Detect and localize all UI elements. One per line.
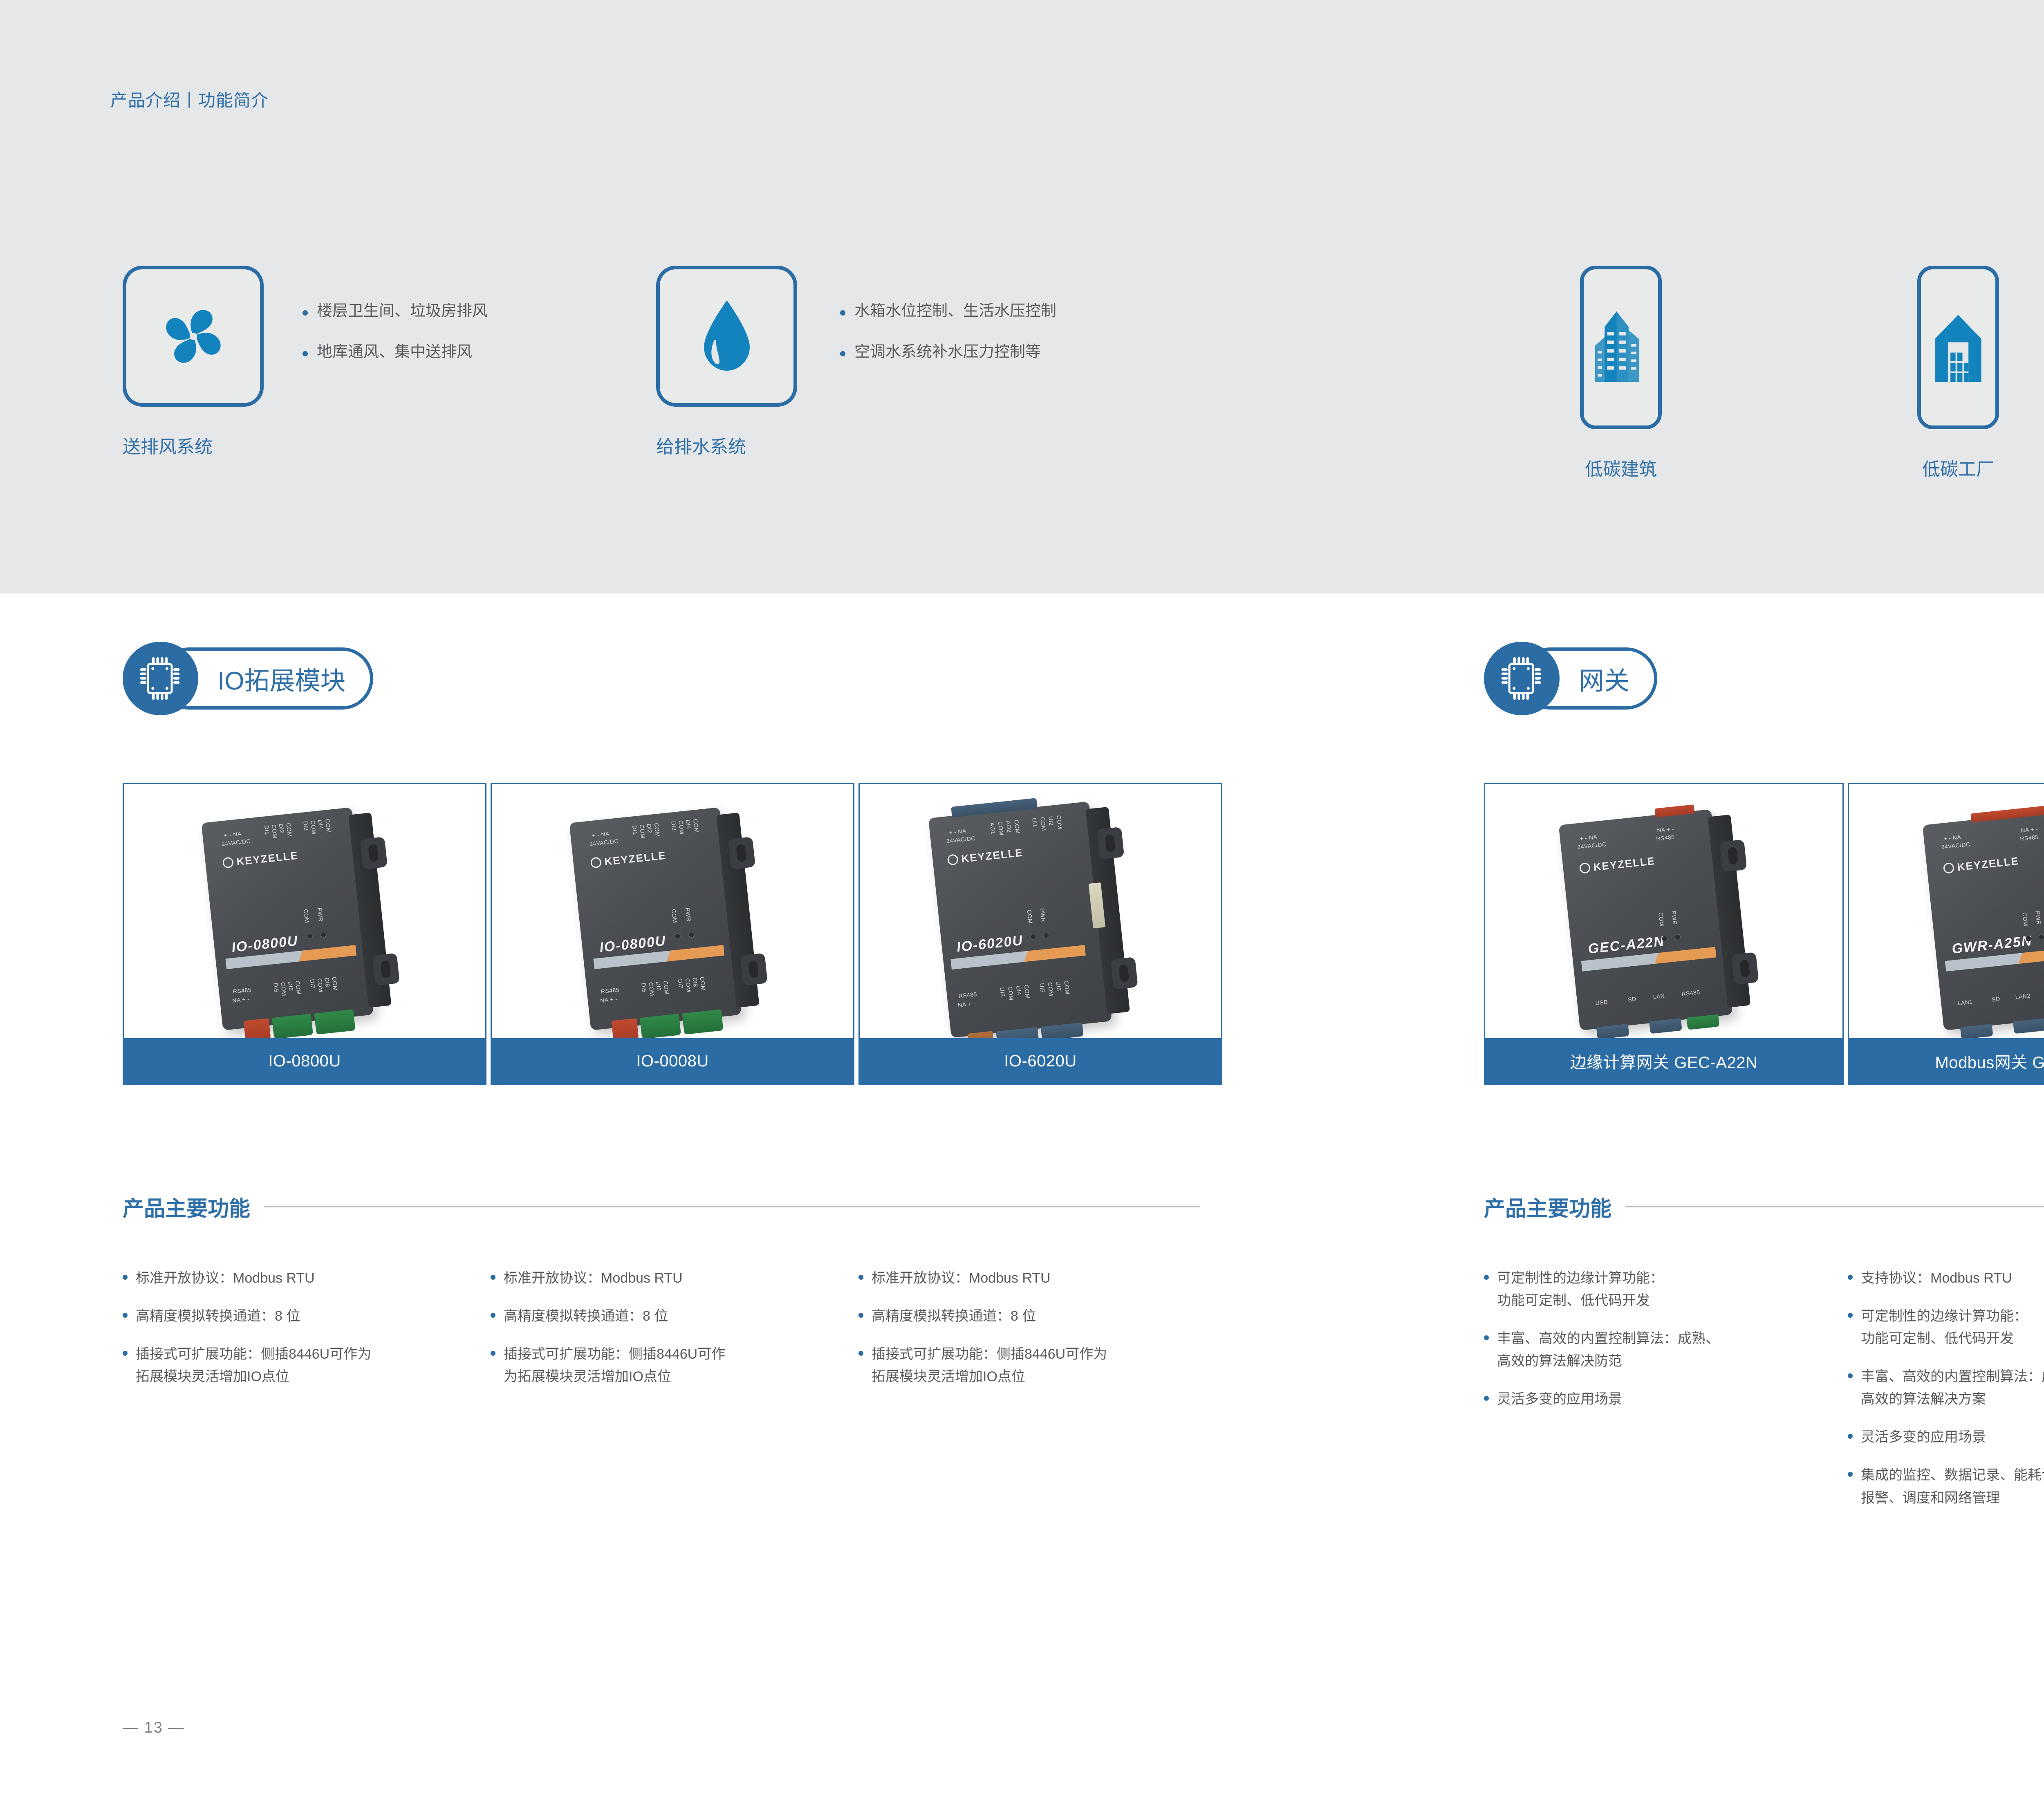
section-header-io-expansion: IO拓展模块	[123, 642, 425, 715]
chip-icon	[139, 656, 182, 701]
terminal-label: UI2	[1047, 816, 1055, 826]
fan-bullet-list: 楼层卫生间、垃圾房排风 地库通风、集中送排风	[303, 302, 488, 383]
terminal-label: DI1	[263, 825, 271, 835]
device-illustration-gwr-a25n: + - NA 24VAC/DC NA + - RS485 KEYZELLE GW…	[1923, 809, 2044, 1030]
terminal-label: COM	[684, 978, 692, 993]
bullet-item: 地库通风、集中送排风	[303, 343, 488, 362]
bullet-dot-icon	[1484, 1335, 1489, 1340]
brand-text: KEYZELLE	[1957, 855, 2019, 873]
bullet-dot-icon	[491, 1313, 495, 1318]
feature-line: 灵活多变的应用场景	[1497, 1391, 1622, 1407]
top-grey-band	[0, 0, 2044, 593]
port-label: USB	[1595, 999, 1608, 1006]
feature-text: 集成的监控、数据记录、能耗计量、 报警、调度和网络管理	[1861, 1464, 2044, 1509]
brand-text: KEYZELLE	[236, 849, 299, 868]
terminal-label: DI2	[278, 823, 285, 833]
feature-text: 可定制性的边缘计算功能： 功能可定制、低代码开发	[1861, 1305, 2028, 1350]
application-caption: 送排风系统	[123, 432, 264, 458]
product-label: Modbus网关 GWR-A25N	[1849, 1038, 2044, 1084]
terminal-label: DI1	[631, 825, 639, 835]
terminal-label: COM	[1056, 815, 1063, 830]
terminal-label: DI8	[692, 977, 699, 987]
device-illustration-io-6020u: + - NA 24VAC/DC AO1 COM AO2 COM UI1 COM …	[928, 802, 1112, 1038]
section-title: IO拓展模块	[217, 660, 345, 697]
led-label: PWR	[1670, 911, 1678, 925]
brand-mark: KEYZELLE	[590, 849, 667, 869]
rs485-pins-label: NA + -	[600, 996, 618, 1004]
feature-item: 标准开放协议：Modbus RTU	[491, 1267, 850, 1290]
bullet-dot-icon	[1848, 1373, 1853, 1378]
terminal-label: DI4	[317, 819, 324, 829]
product-photo: + - NA 24VAC/DC NA + - RS485 KEYZELLE GW…	[1849, 784, 2044, 1038]
page-number-left: — 13 —	[123, 1719, 184, 1737]
feature-line: 集成的监控、数据记录、能耗计量、	[1861, 1467, 2044, 1483]
section-title: 网关	[1579, 660, 1629, 697]
feature-item: 标准开放协议：Modbus RTU	[858, 1267, 1226, 1290]
scenario-caption: 低碳建筑	[1580, 455, 1662, 481]
terminal-label: DI2	[646, 823, 653, 833]
led-label: PWR	[684, 907, 692, 922]
feature-text: 丰富、高效的内置控制算法：成熟、 高效的算法解决防范	[1497, 1328, 1719, 1373]
bullet-dot-icon	[123, 1351, 128, 1356]
device-illustration-gec-a22n: + - NA 24VAC/DC NA + - RS485 KEYZELLE GE…	[1559, 809, 1733, 1030]
brand-mark: KEYZELLE	[222, 849, 299, 869]
terminal-label: DI7	[309, 979, 316, 989]
terminal-label: DI5	[640, 983, 648, 993]
feature-item: 插接式可扩展功能：侧插8446U可作为 拓展模块灵活增加IO点位	[123, 1343, 482, 1388]
bullet-dot-icon	[491, 1351, 495, 1356]
product-label: IO-0008U	[492, 1038, 853, 1084]
terminal-label: COM	[280, 982, 287, 996]
terminal-label: AO2	[1005, 820, 1013, 833]
power-pins-label: + - NA	[1943, 833, 1962, 842]
feature-item: 标准开放协议：Modbus RTU	[123, 1267, 482, 1290]
device-illustration-io-0800u: + - NA 24VAC/DC DI1 COM DI2 COM DI3 COM …	[201, 807, 373, 1030]
feature-text: 丰富、高效的内置控制算法：成熟、 高效的算法解决方案	[1861, 1366, 2044, 1411]
bullet-dot-icon	[1484, 1396, 1489, 1401]
feature-item: 可定制性的边缘计算功能： 功能可定制、低代码开发	[1484, 1267, 1844, 1312]
bullet-dot-icon	[858, 1275, 863, 1280]
feature-line: 拓展模块灵活增加IO点位	[136, 1366, 371, 1388]
feature-item: 灵活多变的应用场景	[1484, 1388, 1844, 1411]
terminal-label: DI4	[685, 819, 692, 829]
terminal-label: DI3	[670, 821, 677, 831]
brand-text: KEYZELLE	[961, 846, 1024, 865]
terminal-label: DI6	[655, 981, 662, 991]
feature-title: 产品主要功能	[123, 1191, 250, 1222]
bullet-item: 水箱水位控制、生活水压控制	[840, 302, 1056, 321]
bullet-dot-icon	[303, 351, 308, 356]
terminal-label: COM	[677, 820, 685, 835]
bullet-dot-icon	[858, 1313, 863, 1318]
feature-item: 高精度模拟转换通道：8 位	[858, 1305, 1226, 1328]
terminal-label: UI1	[1031, 817, 1038, 828]
product-card[interactable]: + - NA 24VAC/DC NA + - RS485 KEYZELLE GW…	[1848, 783, 2044, 1085]
feature-text: 插接式可扩展功能：侧插8446U可作 为拓展模块灵活增加IO点位	[504, 1343, 725, 1388]
water-bullet-list: 水箱水位控制、生活水压控制 空调水系统补水压力控制等	[840, 302, 1056, 383]
feature-line: 标准开放协议：Modbus RTU	[136, 1270, 315, 1286]
chip-icon-badge	[123, 642, 198, 715]
bullet-item: 楼层卫生间、垃圾房排风	[303, 302, 488, 321]
terminal-label: COM	[1023, 984, 1031, 999]
terminal-label: COM	[1047, 982, 1054, 996]
scenario-tile-low-carbon-factory: 低碳工厂	[1917, 266, 1999, 481]
led-label: COM	[303, 909, 310, 923]
port-label: SD	[1627, 996, 1636, 1003]
feature-line: 高效的算法解决防范	[1497, 1350, 1719, 1373]
terminal-label: AO1	[989, 822, 997, 835]
feature-item: 灵活多变的应用场景	[1848, 1426, 2044, 1449]
brand-mark: KEYZELLE	[947, 846, 1024, 867]
product-card[interactable]: + - NA 24VAC/DC AO1 COM AO2 COM UI1 COM …	[858, 783, 1222, 1085]
feature-column: 标准开放协议：Modbus RTU 高精度模拟转换通道：8 位 插接式可扩展功能…	[491, 1267, 850, 1404]
scenario-tile-low-carbon-building: 低碳建筑	[1580, 266, 1662, 481]
feature-line: 支持协议：Modbus RTU	[1861, 1270, 2012, 1286]
brand-mark: KEYZELLE	[1943, 855, 2019, 875]
feature-item: 丰富、高效的内置控制算法：成熟、 高效的算法解决方案	[1848, 1366, 2044, 1411]
terminal-label: COM	[294, 980, 302, 995]
feature-title-block-io: 产品主要功能	[123, 1191, 1222, 1222]
product-photo: + - NA 24VAC/DC AO1 COM AO2 COM UI1 COM …	[860, 784, 1221, 1038]
bullet-dot-icon	[123, 1275, 128, 1280]
fan-icon	[152, 296, 234, 377]
product-label: IO-6020U	[860, 1038, 1221, 1084]
bullet-dot-icon	[1848, 1434, 1853, 1439]
feature-title-block-gateway: 产品主要功能	[1484, 1191, 2044, 1222]
product-card[interactable]: + - NA 24VAC/DC DI1 COM DI2 COM DI3 COM …	[123, 783, 486, 1085]
feature-line: 高精度模拟转换通道：8 位	[872, 1308, 1036, 1324]
bullet-text: 水箱水位控制、生活水压控制	[854, 302, 1056, 321]
feature-line: 可定制性的边缘计算功能：	[1497, 1270, 1664, 1286]
product-photo: + - NA 24VAC/DC NA + - RS485 KEYZELLE GE…	[1485, 784, 1842, 1038]
power-label: 24VAC/DC	[1941, 841, 1971, 850]
terminal-label: COM	[309, 820, 317, 835]
terminal-label: COM	[648, 982, 655, 996]
feature-text: 插接式可扩展功能：侧插8446U可作为 拓展模块灵活增加IO点位	[872, 1343, 1107, 1388]
power-pins-label: + - NA	[1580, 833, 1598, 842]
led-label: COM	[1657, 912, 1665, 927]
rs485-label: RS485	[601, 986, 620, 995]
feature-line: 插接式可扩展功能：侧插8446U可作	[504, 1346, 725, 1362]
power-label: 24VAC/DC	[1577, 841, 1607, 850]
feature-line: 高精度模拟转换通道：8 位	[136, 1308, 300, 1324]
feature-item: 插接式可扩展功能：侧插8446U可作为 拓展模块灵活增加IO点位	[858, 1343, 1226, 1388]
rs485-label: RS485	[958, 991, 977, 999]
feature-item: 丰富、高效的内置控制算法：成熟、 高效的算法解决防范	[1484, 1328, 1844, 1373]
application-caption: 给排水系统	[656, 432, 797, 458]
feature-text: 高精度模拟转换通道：8 位	[136, 1305, 300, 1328]
power-label: 24VAC/DC	[221, 837, 251, 847]
fan-icon-tile	[123, 266, 264, 407]
bullet-text: 地库通风、集中送排风	[317, 343, 472, 362]
feature-text: 插接式可扩展功能：侧插8446U可作为 拓展模块灵活增加IO点位	[136, 1343, 371, 1388]
product-card[interactable]: + - NA 24VAC/DC DI1 COM DI2 COM DI3 COM …	[491, 783, 854, 1085]
led-label: COM	[670, 909, 678, 923]
application-block-water: 水箱水位控制、生活水压控制 空调水系统补水压力控制等 给排水系统	[656, 266, 797, 458]
terminal-label: DI6	[287, 981, 294, 991]
feature-line: 高效的算法解决方案	[1861, 1388, 2044, 1411]
factory-icon	[1927, 305, 1989, 390]
terminal-label: COM	[1063, 980, 1071, 995]
terminal-label: COM	[331, 976, 338, 991]
terminal-label: COM	[285, 823, 293, 837]
led-label: PWR	[2034, 911, 2042, 925]
chip-icon-badge	[1484, 642, 1560, 715]
feature-item: 插接式可扩展功能：侧插8446U可作 为拓展模块灵活增加IO点位	[491, 1343, 850, 1388]
chip-icon	[1500, 656, 1544, 701]
device-illustration-io-0008u: + - NA 24VAC/DC DI1 COM DI2 COM DI3 COM …	[569, 807, 741, 1030]
bullet-item: 空调水系统补水压力控制等	[840, 343, 1056, 362]
feature-column: 可定制性的边缘计算功能： 功能可定制、低代码开发 丰富、高效的内置控制算法：成熟…	[1484, 1267, 1844, 1426]
bullet-dot-icon	[1848, 1313, 1853, 1318]
power-pins-label: + - NA	[948, 828, 967, 836]
feature-text: 标准开放协议：Modbus RTU	[872, 1267, 1051, 1290]
application-block-fan: 楼层卫生间、垃圾房排风 地库通风、集中送排风 送排风系统	[123, 266, 264, 458]
bullet-dot-icon	[123, 1313, 128, 1318]
feature-line: 丰富、高效的内置控制算法：成熟、	[1861, 1369, 2044, 1384]
port-label: LAN1	[1957, 999, 1973, 1007]
feature-rule	[1625, 1206, 2044, 1207]
feature-line: 标准开放协议：Modbus RTU	[872, 1270, 1051, 1286]
rs485-pins-label: NA + -	[1656, 826, 1674, 834]
rs485-pins-label: NA + -	[957, 1000, 975, 1008]
led-label: PWR	[1039, 908, 1047, 923]
led-label: COM	[2021, 912, 2029, 927]
bullet-dot-icon	[840, 351, 845, 356]
bullet-dot-icon	[1848, 1275, 1853, 1280]
feature-text: 高精度模拟转换通道：8 位	[872, 1305, 1036, 1328]
scenario-caption: 低碳工厂	[1917, 455, 1999, 481]
feature-line: 拓展模块灵活增加IO点位	[872, 1366, 1107, 1388]
brand-text: KEYZELLE	[604, 849, 667, 868]
led-label: PWR	[316, 907, 324, 922]
feature-line: 报警、调度和网络管理	[1861, 1487, 2044, 1509]
power-label: 24VAC/DC	[946, 835, 976, 844]
power-label: 24VAC/DC	[589, 837, 619, 847]
brochure-spread: 产品介绍丨功能简介 产品介绍丨功能简介 楼层卫生间、垃圾房排风 地库通风	[0, 0, 2044, 1798]
power-pins-label: + - NA	[224, 831, 242, 839]
product-label: IO-0800U	[124, 1038, 485, 1084]
rs485-label: RS485	[233, 986, 252, 995]
power-pins-label: + - NA	[592, 831, 610, 839]
terminal-label: COM	[324, 819, 332, 833]
terminal-label: COM	[653, 823, 661, 837]
terminal-label: UI5	[1039, 983, 1046, 993]
terminal-label: COM	[1039, 817, 1047, 831]
terminal-label: COM	[662, 980, 670, 995]
terminal-label: DI7	[677, 979, 684, 989]
product-photo: + - NA 24VAC/DC DI1 COM DI2 COM DI3 COM …	[124, 784, 485, 1038]
feature-text: 支持协议：Modbus RTU	[1861, 1267, 2012, 1290]
factory-icon-tile	[1917, 266, 1999, 429]
product-photo: + - NA 24VAC/DC DI1 COM DI2 COM DI3 COM …	[492, 784, 853, 1038]
feature-rule	[264, 1206, 1200, 1207]
feature-text: 灵活多变的应用场景	[1861, 1426, 1986, 1449]
bullet-dot-icon	[858, 1351, 863, 1356]
feature-line: 标准开放协议：Modbus RTU	[504, 1270, 683, 1286]
running-head-left: 产品介绍丨功能简介	[110, 87, 269, 112]
feature-title: 产品主要功能	[1484, 1191, 1611, 1222]
feature-line: 高精度模拟转换通道：8 位	[504, 1308, 668, 1324]
feature-text: 标准开放协议：Modbus RTU	[504, 1267, 683, 1290]
feature-column: 支持协议：Modbus RTU 可定制性的边缘计算功能： 功能可定制、低代码开发…	[1848, 1267, 2044, 1525]
bullet-text: 空调水系统补水压力控制等	[854, 343, 1041, 362]
port-label: LAN	[1653, 992, 1665, 1000]
terminal-label: DI8	[324, 977, 331, 987]
port-label: SD	[1991, 996, 2000, 1003]
terminal-label: COM	[1013, 820, 1021, 834]
bullet-dot-icon	[491, 1275, 495, 1280]
feature-text: 灵活多变的应用场景	[1497, 1388, 1622, 1411]
terminal-label: COM	[639, 824, 646, 839]
office-building-icon-tile	[1580, 266, 1662, 429]
feature-text: 标准开放协议：Modbus RTU	[136, 1267, 315, 1290]
office-building-icon	[1590, 305, 1652, 390]
terminal-label: COM	[699, 976, 706, 991]
product-label: 边缘计算网关 GEC-A22N	[1485, 1038, 1842, 1084]
terminal-label: UI3	[999, 987, 1006, 997]
water-drop-icon-tile	[656, 266, 797, 407]
product-card[interactable]: + - NA 24VAC/DC NA + - RS485 KEYZELLE GE…	[1484, 783, 1844, 1085]
terminal-label: COM	[692, 819, 700, 833]
feature-item: 支持协议：Modbus RTU	[1848, 1267, 2044, 1290]
rs485-pins-label: NA + -	[232, 996, 250, 1004]
feature-line: 丰富、高效的内置控制算法：成熟、	[1497, 1331, 1719, 1346]
terminal-label: COM	[997, 821, 1005, 836]
feature-line: 可定制性的边缘计算功能：	[1861, 1308, 2028, 1324]
rs485-label: RS485	[2020, 834, 2039, 842]
feature-line: 插接式可扩展功能：侧插8446U可作为	[136, 1346, 371, 1362]
terminal-label: COM	[316, 978, 324, 993]
led-label: COM	[1026, 909, 1034, 924]
feature-line: 功能可定制、低代码开发	[1861, 1328, 2028, 1350]
feature-item: 集成的监控、数据记录、能耗计量、 报警、调度和网络管理	[1848, 1464, 2044, 1509]
feature-item: 高精度模拟转换通道：8 位	[491, 1305, 850, 1328]
feature-column: 标准开放协议：Modbus RTU 高精度模拟转换通道：8 位 插接式可扩展功能…	[123, 1267, 482, 1404]
feature-item: 高精度模拟转换通道：8 位	[123, 1305, 482, 1328]
feature-text: 可定制性的边缘计算功能： 功能可定制、低代码开发	[1497, 1267, 1664, 1312]
terminal-label: COM	[1007, 986, 1015, 1001]
feature-line: 功能可定制、低代码开发	[1497, 1290, 1664, 1312]
water-drop-icon	[688, 296, 766, 377]
terminal-label: DI5	[272, 983, 280, 993]
bullet-dot-icon	[303, 310, 308, 316]
port-label: LAN2	[2015, 992, 2031, 1001]
rs485-pins-label: NA + -	[2020, 826, 2038, 834]
rs485-label: RS485	[1656, 834, 1675, 842]
terminal-label: UI4	[1015, 985, 1022, 996]
bullet-text: 楼层卫生间、垃圾房排风	[317, 302, 488, 321]
bullet-dot-icon	[1484, 1275, 1489, 1280]
feature-line: 插接式可扩展功能：侧插8446U可作为	[872, 1346, 1107, 1362]
bullet-dot-icon	[840, 310, 845, 316]
feature-text: 高精度模拟转换通道：8 位	[504, 1305, 668, 1328]
port-label: RS485	[1681, 989, 1701, 997]
feature-column: 标准开放协议：Modbus RTU 高精度模拟转换通道：8 位 插接式可扩展功能…	[858, 1267, 1226, 1404]
brand-text: KEYZELLE	[1593, 855, 1656, 873]
feature-item: 可定制性的边缘计算功能： 功能可定制、低代码开发	[1848, 1305, 2044, 1350]
terminal-label: UI6	[1055, 981, 1062, 991]
brand-mark: KEYZELLE	[1579, 855, 1656, 875]
section-header-gateway: 网关	[1484, 642, 1737, 715]
feature-line: 为拓展模块灵活增加IO点位	[504, 1366, 725, 1388]
terminal-label: COM	[271, 824, 278, 839]
terminal-label: DI3	[302, 821, 309, 831]
bullet-dot-icon	[1848, 1472, 1853, 1477]
feature-line: 灵活多变的应用场景	[1861, 1429, 1986, 1445]
